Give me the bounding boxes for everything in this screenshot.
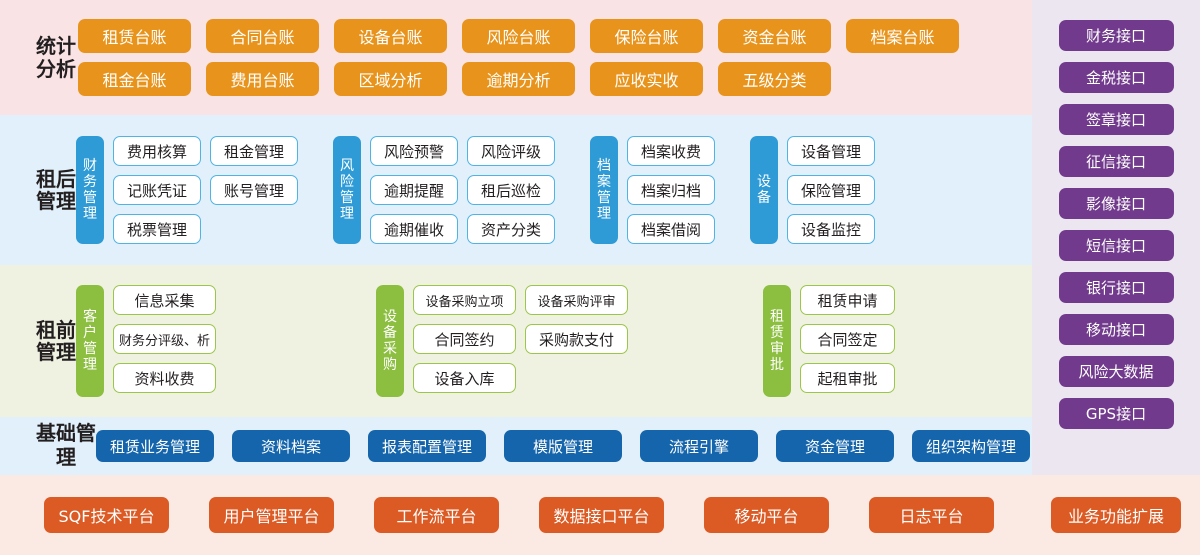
interface-button-golden-tax[interactable]: 金税接口 — [1059, 62, 1174, 93]
group-tab-lease-approval[interactable]: 租赁审批 — [763, 285, 791, 397]
basic-button-org-structure-management[interactable]: 组织架构管理 — [912, 430, 1030, 462]
card-contract-signing[interactable]: 合同签约 — [413, 324, 516, 354]
card-equipment-management[interactable]: 设备管理 — [787, 136, 875, 166]
card-insurance-management[interactable]: 保险管理 — [787, 175, 875, 205]
stat-button-expense-ledger[interactable]: 费用台账 — [206, 62, 319, 96]
stat-button-fund-ledger[interactable]: 资金台账 — [718, 19, 831, 53]
card-archive-fee[interactable]: 档案收费 — [627, 136, 715, 166]
sidebar-footer: 业务功能扩展 — [1032, 475, 1200, 555]
card-lease-application[interactable]: 租赁申请 — [800, 285, 895, 315]
group-col-approval-1: 租赁申请 合同签定 起租审批 — [800, 285, 895, 397]
section-basic-management: 基础管理 租赁业务管理 资料档案 报表配置管理 模版管理 流程引擎 资金管理 组… — [0, 417, 1032, 475]
card-accounting-voucher[interactable]: 记账凭证 — [113, 175, 201, 205]
stat-button-five-level-classification[interactable]: 五级分类 — [718, 62, 831, 96]
platform-button-log[interactable]: 日志平台 — [869, 497, 994, 533]
interface-button-gps[interactable]: GPS接口 — [1059, 398, 1174, 429]
card-contract-conclusion[interactable]: 合同签定 — [800, 324, 895, 354]
stat-button-lease-ledger[interactable]: 租赁台账 — [78, 19, 191, 53]
card-archive-filing[interactable]: 档案归档 — [627, 175, 715, 205]
interface-button-sms[interactable]: 短信接口 — [1059, 230, 1174, 261]
architecture-diagram: 统计分析 租赁台账 合同台账 设备台账 风险台账 保险台账 资金台账 档案台账 … — [0, 0, 1200, 555]
sidebar-interface-list: 财务接口 金税接口 签章接口 征信接口 影像接口 短信接口 银行接口 移动接口 … — [1032, 0, 1200, 475]
section-label-post-lease: 租后管理 — [0, 168, 76, 213]
card-archive-borrowing[interactable]: 档案借阅 — [627, 214, 715, 244]
section-post-lease: 租后管理 财务管理 费用核算 记账凭证 税票管理 租金管理 账号管理 — [0, 115, 1032, 265]
card-equipment-warehousing[interactable]: 设备入库 — [413, 363, 516, 393]
section-label-statistics: 统计分析 — [0, 35, 76, 80]
group-col-risk-2: 风险评级 租后巡检 资产分类 — [467, 136, 555, 244]
card-financial-analysis-rating[interactable]: 财务分评级、析 — [113, 324, 216, 354]
stat-button-region-analysis[interactable]: 区域分析 — [334, 62, 447, 96]
interface-button-imaging[interactable]: 影像接口 — [1059, 188, 1174, 219]
card-rent-management[interactable]: 租金管理 — [210, 136, 298, 166]
card-risk-rating[interactable]: 风险评级 — [467, 136, 555, 166]
stat-button-insurance-ledger[interactable]: 保险台账 — [590, 19, 703, 53]
platform-button-data-interface[interactable]: 数据接口平台 — [539, 497, 664, 533]
interface-button-mobile[interactable]: 移动接口 — [1059, 314, 1174, 345]
interface-button-credit[interactable]: 征信接口 — [1059, 146, 1174, 177]
platform-button-business-function-extension[interactable]: 业务功能扩展 — [1051, 497, 1181, 533]
group-tab-finance-management[interactable]: 财务管理 — [76, 136, 104, 244]
group-finance-management: 财务管理 费用核算 记账凭证 税票管理 租金管理 账号管理 — [76, 136, 298, 244]
card-procurement-review[interactable]: 设备采购评审 — [525, 285, 628, 315]
group-columns-equipment: 设备管理 保险管理 设备监控 — [787, 136, 875, 244]
card-tax-invoice-management[interactable]: 税票管理 — [113, 214, 201, 244]
sidebar-interfaces: 财务接口 金税接口 签章接口 征信接口 影像接口 短信接口 银行接口 移动接口 … — [1032, 0, 1200, 555]
card-overdue-collection[interactable]: 逾期催收 — [370, 214, 458, 244]
card-equipment-monitoring[interactable]: 设备监控 — [787, 214, 875, 244]
stat-button-risk-ledger[interactable]: 风险台账 — [462, 19, 575, 53]
group-col-equipment-1: 设备管理 保险管理 设备监控 — [787, 136, 875, 244]
group-columns-archive: 档案收费 档案归档 档案借阅 — [627, 136, 715, 244]
interface-button-bank[interactable]: 银行接口 — [1059, 272, 1174, 303]
section-pre-lease: 租前管理 客户管理 信息采集 财务分评级、析 资料收费 设备采购 — [0, 265, 1032, 417]
group-col-customer-1: 信息采集 财务分评级、析 资料收费 — [113, 285, 216, 397]
group-lease-approval: 租赁审批 租赁申请 合同签定 起租审批 — [763, 285, 895, 397]
stat-button-contract-ledger[interactable]: 合同台账 — [206, 19, 319, 53]
group-tab-equipment-procurement[interactable]: 设备采购 — [376, 285, 404, 397]
pre-lease-body: 客户管理 信息采集 财务分评级、析 资料收费 设备采购 设备采购立项 — [76, 265, 1032, 417]
group-equipment-procurement: 设备采购 设备采购立项 合同签约 设备入库 设备采购评审 采购款支付 — [376, 285, 628, 397]
platform-button-sqf-technology[interactable]: SQF技术平台 — [44, 497, 169, 533]
stat-button-overdue-analysis[interactable]: 逾期分析 — [462, 62, 575, 96]
basic-button-workflow-engine[interactable]: 流程引擎 — [640, 430, 758, 462]
basic-button-report-configuration[interactable]: 报表配置管理 — [368, 430, 486, 462]
group-columns-procurement: 设备采购立项 合同签约 设备入库 设备采购评审 采购款支付 — [413, 285, 628, 397]
card-asset-classification[interactable]: 资产分类 — [467, 214, 555, 244]
group-columns-risk: 风险预警 逾期提醒 逾期催收 风险评级 租后巡检 资产分类 — [370, 136, 555, 244]
group-col-procurement-1: 设备采购立项 合同签约 设备入库 — [413, 285, 516, 397]
group-tab-customer-management[interactable]: 客户管理 — [76, 285, 104, 397]
statistics-row-2: 租金台账 费用台账 区域分析 逾期分析 应收实收 五级分类 — [78, 62, 959, 96]
card-information-collection[interactable]: 信息采集 — [113, 285, 216, 315]
group-columns-customer: 信息采集 财务分评级、析 资料收费 — [113, 285, 216, 397]
group-customer-management: 客户管理 信息采集 财务分评级、析 资料收费 — [76, 285, 216, 397]
group-col-archive-1: 档案收费 档案归档 档案借阅 — [627, 136, 715, 244]
group-tab-risk-management[interactable]: 风险管理 — [333, 136, 361, 244]
group-tab-equipment[interactable]: 设备 — [750, 136, 778, 244]
stat-button-equipment-ledger[interactable]: 设备台账 — [334, 19, 447, 53]
main-column: 统计分析 租赁台账 合同台账 设备台账 风险台账 保险台账 资金台账 档案台账 … — [0, 0, 1032, 555]
platform-button-mobile[interactable]: 移动平台 — [704, 497, 829, 533]
platform-button-user-management[interactable]: 用户管理平台 — [209, 497, 334, 533]
statistics-grid: 租赁台账 合同台账 设备台账 风险台账 保险台账 资金台账 档案台账 租金台账 … — [76, 19, 959, 96]
section-label-basic-management: 基础管理 — [0, 422, 96, 469]
basic-button-material-archive[interactable]: 资料档案 — [232, 430, 350, 462]
card-procurement-payment[interactable]: 采购款支付 — [525, 324, 628, 354]
section-platform: SQF技术平台 用户管理平台 工作流平台 数据接口平台 移动平台 日志平台 — [0, 475, 1032, 555]
group-archive-management: 档案管理 档案收费 档案归档 档案借阅 — [590, 136, 715, 244]
card-post-lease-inspection[interactable]: 租后巡检 — [467, 175, 555, 205]
stat-button-rent-ledger[interactable]: 租金台账 — [78, 62, 191, 96]
basic-button-lease-business-management[interactable]: 租赁业务管理 — [96, 430, 214, 462]
group-col-procurement-2: 设备采购评审 采购款支付 — [525, 285, 628, 397]
basic-management-body: 租赁业务管理 资料档案 报表配置管理 模版管理 流程引擎 资金管理 组织架构管理 — [96, 417, 1032, 475]
group-col-risk-1: 风险预警 逾期提醒 逾期催收 — [370, 136, 458, 244]
section-label-pre-lease: 租前管理 — [0, 319, 76, 364]
group-risk-management: 风险管理 风险预警 逾期提醒 逾期催收 风险评级 租后巡检 资产分类 — [333, 136, 555, 244]
card-risk-warning[interactable]: 风险预警 — [370, 136, 458, 166]
interface-button-finance[interactable]: 财务接口 — [1059, 20, 1174, 51]
card-material-fee[interactable]: 资料收费 — [113, 363, 216, 393]
card-expense-accounting[interactable]: 费用核算 — [113, 136, 201, 166]
platform-row: SQF技术平台 用户管理平台 工作流平台 数据接口平台 移动平台 日志平台 — [0, 497, 1032, 533]
basic-button-template-management[interactable]: 模版管理 — [504, 430, 622, 462]
card-lease-start-approval[interactable]: 起租审批 — [800, 363, 895, 393]
basic-management-row: 租赁业务管理 资料档案 报表配置管理 模版管理 流程引擎 资金管理 组织架构管理 — [96, 430, 1030, 462]
card-overdue-reminder[interactable]: 逾期提醒 — [370, 175, 458, 205]
post-lease-body: 财务管理 费用核算 记账凭证 税票管理 租金管理 账号管理 — [76, 115, 1032, 265]
group-columns-finance: 费用核算 记账凭证 税票管理 租金管理 账号管理 — [113, 136, 298, 244]
group-col-finance-2: 租金管理 账号管理 — [210, 136, 298, 244]
basic-button-fund-management[interactable]: 资金管理 — [776, 430, 894, 462]
interface-button-risk-bigdata[interactable]: 风险大数据 — [1059, 356, 1174, 387]
section-statistics: 统计分析 租赁台账 合同台账 设备台账 风险台账 保险台账 资金台账 档案台账 … — [0, 0, 1032, 115]
interface-button-seal[interactable]: 签章接口 — [1059, 104, 1174, 135]
stat-button-receivable-actual[interactable]: 应收实收 — [590, 62, 703, 96]
card-account-management[interactable]: 账号管理 — [210, 175, 298, 205]
group-tab-archive-management[interactable]: 档案管理 — [590, 136, 618, 244]
card-procurement-initiation[interactable]: 设备采购立项 — [413, 285, 516, 315]
platform-button-workflow[interactable]: 工作流平台 — [374, 497, 499, 533]
statistics-row-1: 租赁台账 合同台账 设备台账 风险台账 保险台账 资金台账 档案台账 — [78, 19, 959, 53]
group-equipment: 设备 设备管理 保险管理 设备监控 — [750, 136, 875, 244]
stat-button-archive-ledger[interactable]: 档案台账 — [846, 19, 959, 53]
statistics-body: 租赁台账 合同台账 设备台账 风险台账 保险台账 资金台账 档案台账 租金台账 … — [76, 0, 1032, 115]
group-col-finance-1: 费用核算 记账凭证 税票管理 — [113, 136, 201, 244]
group-columns-approval: 租赁申请 合同签定 起租审批 — [800, 285, 895, 397]
